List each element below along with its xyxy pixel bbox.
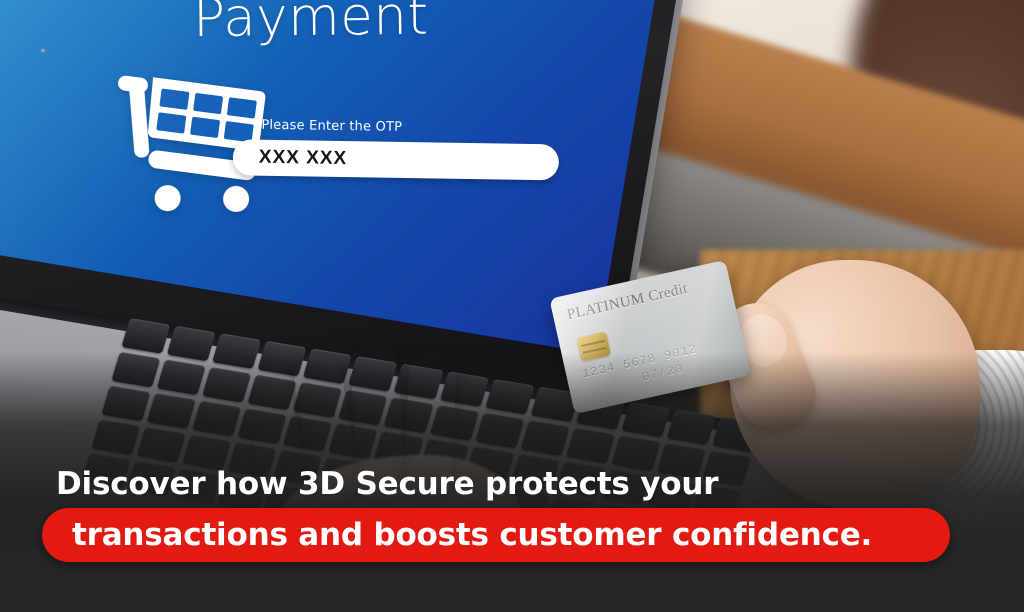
- webcam-icon: ●: [37, 45, 48, 55]
- headline-line-1: Discover how 3D Secure protects your: [56, 466, 718, 502]
- otp-input[interactable]: XXX XXX: [233, 139, 560, 180]
- otp-label: Please Enter the OTP: [261, 118, 402, 135]
- promo-banner: Payment: [0, 0, 1024, 612]
- headline-highlight-pill: transactions and boosts customer confide…: [42, 508, 950, 562]
- payment-title: Payment: [193, 0, 429, 49]
- otp-input-value: XXX XXX: [233, 146, 348, 170]
- headline-line-2: transactions and boosts customer confide…: [42, 517, 872, 553]
- otp-form: Please Enter the OTP XXX XXX: [232, 117, 574, 232]
- keyboard-key[interactable]: [121, 318, 170, 354]
